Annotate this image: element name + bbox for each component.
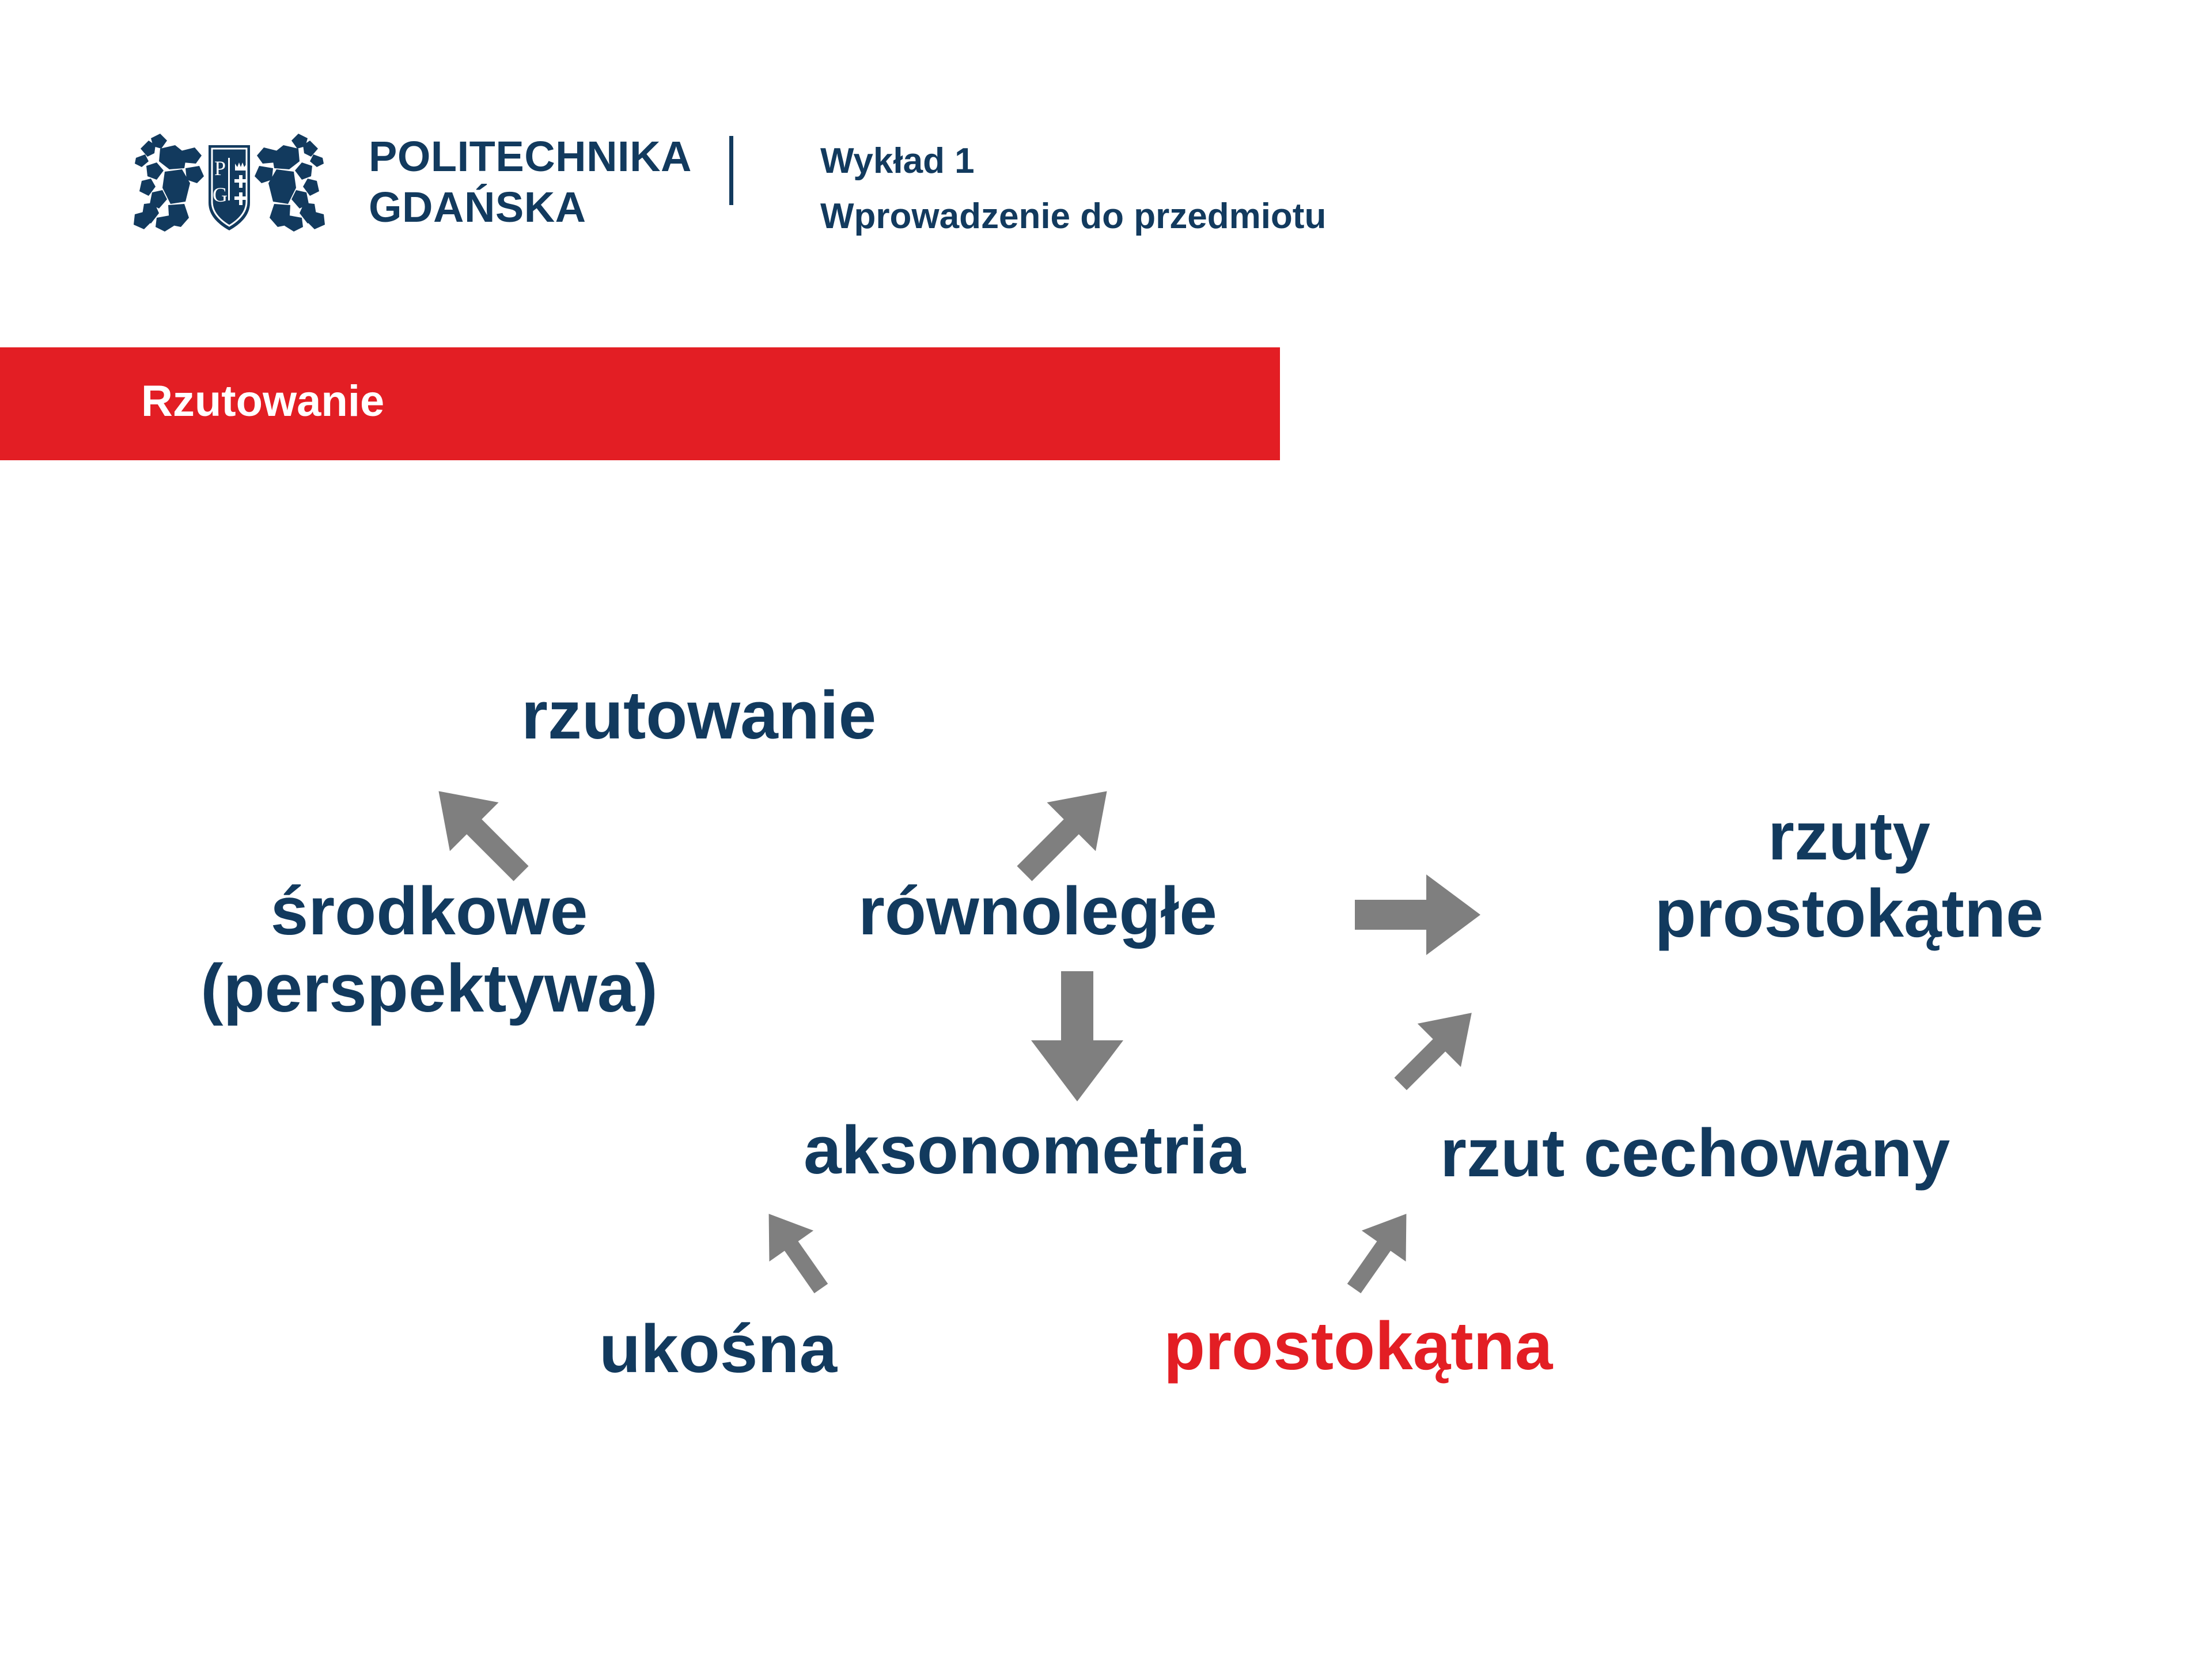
node-aksonometria: aksonometria: [804, 1112, 1245, 1189]
arrow-down-icon: [1031, 971, 1123, 1101]
node-rzutowanie: rzutowanie: [521, 677, 876, 754]
arrow-down-right-icon-2: [1381, 992, 1491, 1105]
node-rzut-cechowany: rzut cechowany: [1440, 1115, 1950, 1192]
node-rzuty-line-2: prostokątne: [1521, 875, 2177, 952]
node-srodkowe-line-2: (perspektywa): [124, 950, 734, 1027]
arrow-down-left-icon: [414, 766, 546, 899]
node-prostokatna: prostokątna: [1164, 1308, 1552, 1385]
arrow-down-right-icon: [999, 766, 1132, 899]
arrow-down-left-icon-2: [738, 1199, 851, 1303]
arrow-right-icon: [1355, 874, 1480, 955]
node-rzuty-line-1: rzuty: [1521, 798, 2177, 875]
projection-taxonomy-diagram: rzutowanie środkowe (perspektywa) równol…: [0, 0, 2212, 1659]
node-ukosna: ukośna: [599, 1310, 837, 1388]
node-rzuty-prostokatne: rzuty prostokątne: [1521, 798, 2177, 952]
arrow-down-right-icon-3: [1324, 1199, 1437, 1303]
